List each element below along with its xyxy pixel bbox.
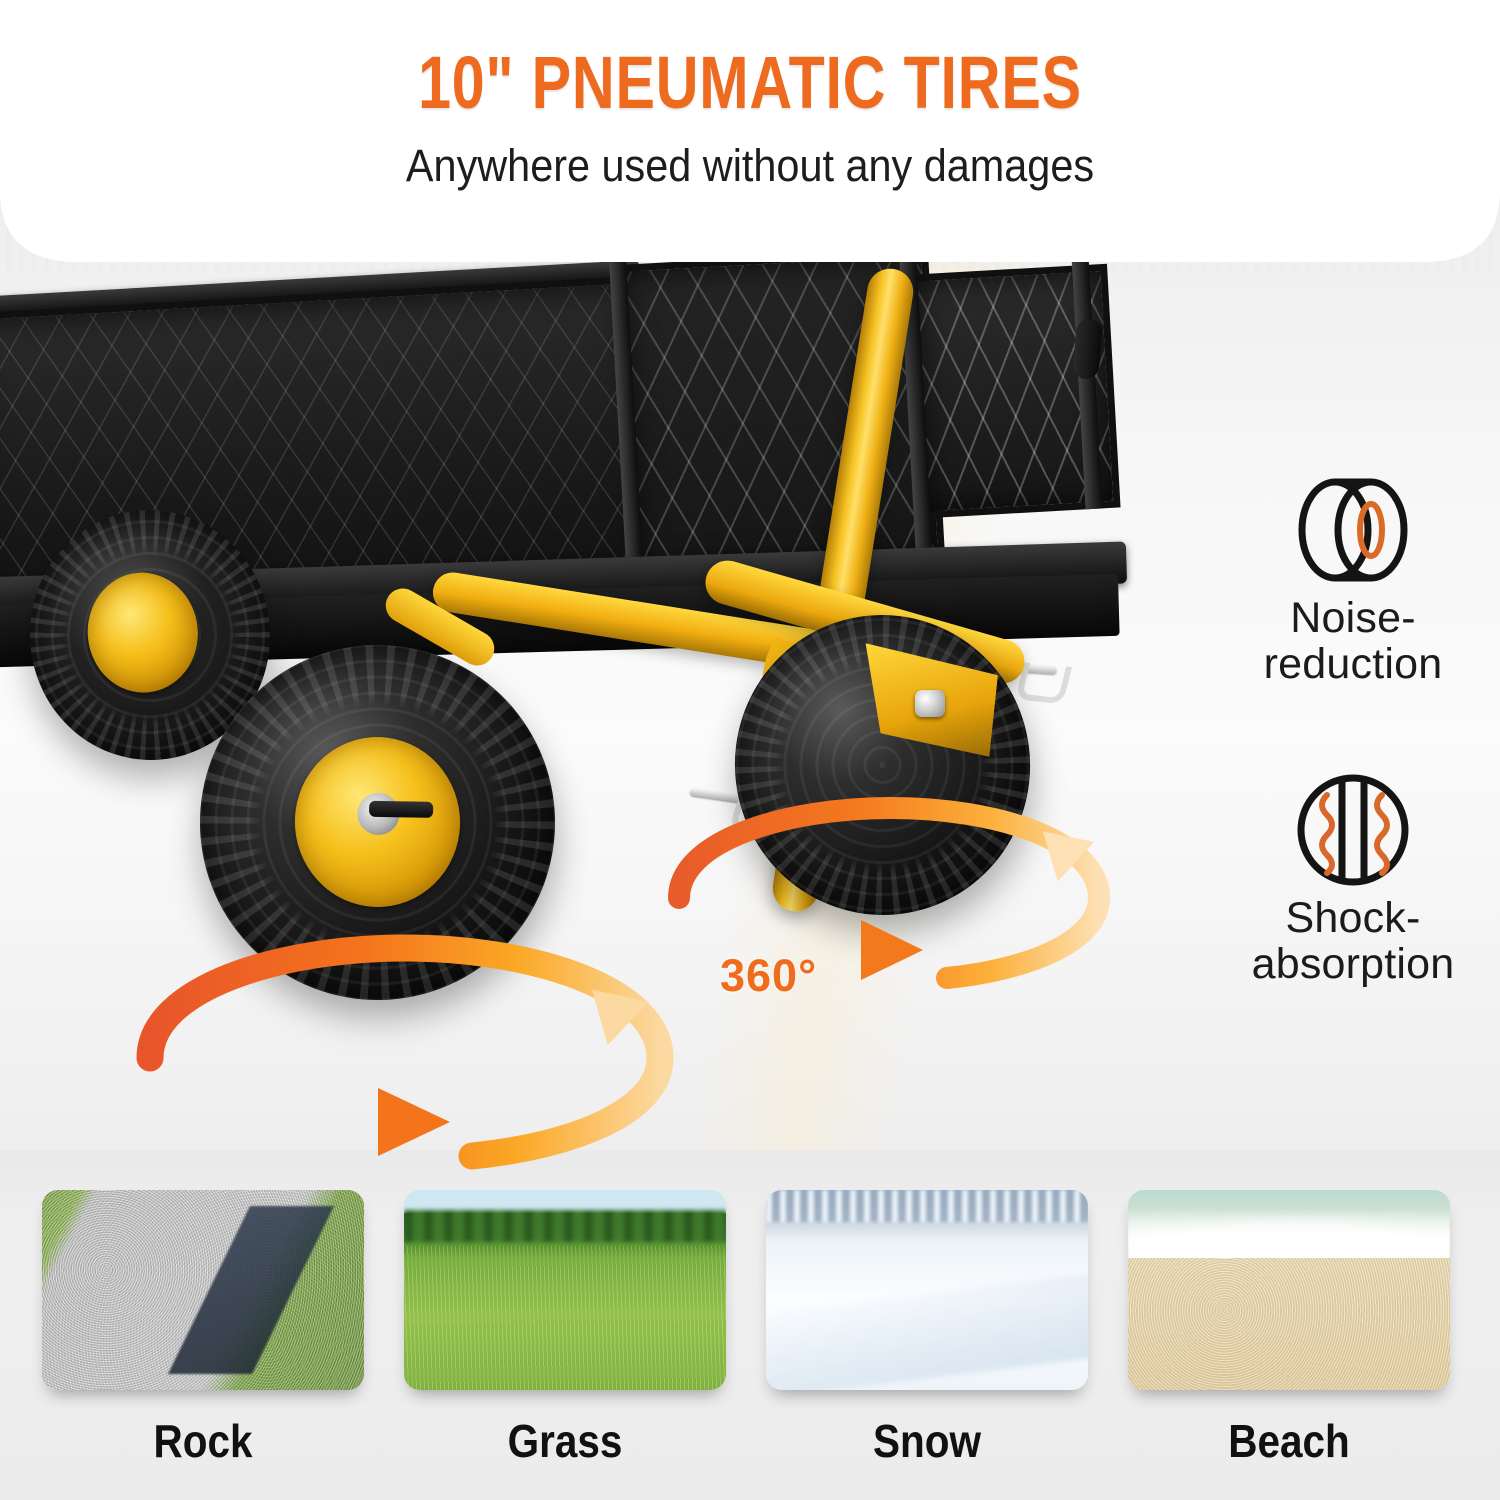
snow-thumbnail [766, 1190, 1088, 1390]
tire-perspective-icon [1208, 470, 1498, 590]
rock-thumbnail [42, 1190, 364, 1390]
grass-texture [404, 1246, 726, 1390]
rotation-degree-badge: 360° [720, 950, 817, 1002]
terrain-item-grass: Grass [404, 1190, 726, 1468]
page-title: 10" PNEUMATIC TIRES [150, 40, 1350, 125]
terrain-caption: Snow [785, 1414, 1068, 1468]
feature-label: Noise- reduction [1208, 596, 1498, 687]
tire-valve-stem [369, 801, 433, 818]
beach-foam [1128, 1202, 1450, 1266]
feature-label-line2: absorption [1208, 942, 1498, 988]
axle-bolt-icon [915, 690, 945, 717]
feature-label-line2: reduction [1208, 642, 1498, 688]
product-infographic: 360° 10" PNEUMATIC TIRES Anywhere used w… [0, 0, 1500, 1500]
page-subtitle: Anywhere used without any damages [60, 140, 1440, 192]
terrain-item-beach: Beach [1128, 1190, 1450, 1468]
feature-label: Shock- absorption [1208, 896, 1498, 987]
beach-thumbnail [1128, 1190, 1450, 1390]
terrain-item-snow: Snow [766, 1190, 1088, 1468]
shock-absorber-icon [1208, 770, 1498, 890]
terrain-caption: Rock [61, 1414, 344, 1468]
grass-thumbnail [404, 1190, 726, 1390]
terrain-caption: Grass [423, 1414, 706, 1468]
feature-shock-absorption: Shock- absorption [1208, 770, 1498, 987]
feature-noise-reduction: Noise- reduction [1208, 470, 1498, 687]
terrain-thumbnail-strip: Rock Grass Snow Beach [0, 1190, 1500, 1500]
terrain-caption: Beach [1147, 1414, 1430, 1468]
feature-label-line1: Shock- [1208, 896, 1498, 942]
beach-sand [1128, 1258, 1450, 1390]
front-wheel-rotation-arrow [120, 940, 680, 1170]
feature-label-line1: Noise- [1208, 596, 1498, 642]
terrain-item-rock: Rock [42, 1190, 364, 1468]
